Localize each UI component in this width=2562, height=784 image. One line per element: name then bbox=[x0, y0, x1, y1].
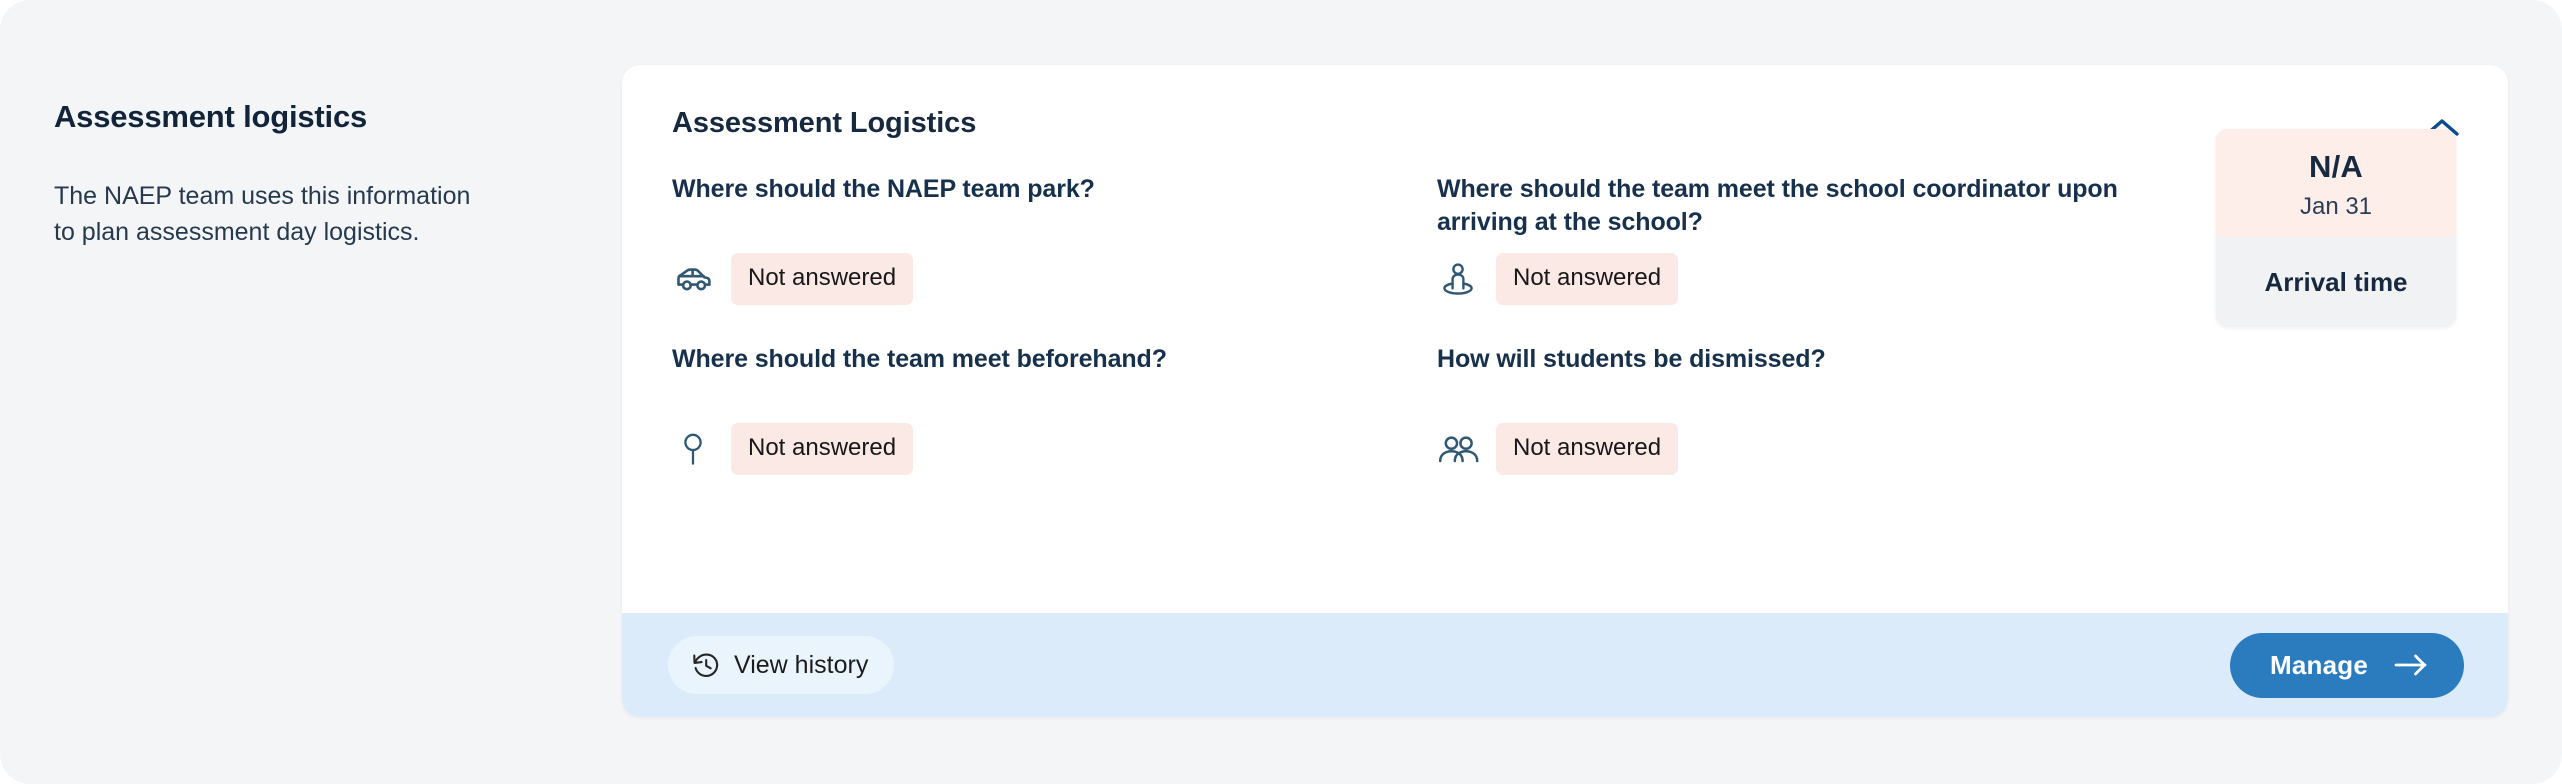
arrival-time-value: N/A bbox=[2309, 149, 2363, 185]
question-item-park: Where should the NAEP team park? Not bbox=[672, 173, 1437, 305]
questions-row-1: Where should the NAEP team park? Not bbox=[672, 173, 2202, 305]
status-badge: Not answered bbox=[731, 253, 913, 305]
status-badge: Not answered bbox=[1496, 253, 1678, 305]
arrival-time-panel[interactable]: N/A Jan 31 Arrival time bbox=[2216, 129, 2456, 327]
question-status: Not answered bbox=[1437, 423, 2146, 475]
arrival-time-date: Jan 31 bbox=[2300, 193, 2372, 221]
question-item-meet-beforehand: Where should the team meet beforehand? N… bbox=[672, 343, 1437, 475]
status-badge: Not answered bbox=[1496, 423, 1678, 475]
question-text: Where should the team meet the school co… bbox=[1437, 173, 2146, 241]
arrival-time-value-block: N/A Jan 31 bbox=[2216, 129, 2456, 237]
section-description: Assessment logistics The NAEP team uses … bbox=[54, 98, 524, 250]
car-icon bbox=[672, 258, 714, 300]
arrival-time-label-block: Arrival time bbox=[2216, 237, 2456, 327]
person-location-icon bbox=[1437, 258, 1479, 300]
assessment-logistics-card: Assessment Logistics Where should the NA… bbox=[622, 65, 2508, 717]
question-text: Where should the team meet beforehand? bbox=[672, 343, 1381, 411]
manage-label: Manage bbox=[2270, 650, 2368, 681]
card-title: Assessment Logistics bbox=[672, 107, 976, 140]
manage-button[interactable]: Manage bbox=[2230, 633, 2464, 698]
view-history-button[interactable]: View history bbox=[668, 636, 894, 694]
question-text: Where should the NAEP team park? bbox=[672, 173, 1381, 241]
page-title: Assessment logistics bbox=[54, 98, 524, 135]
page-root: Assessment logistics The NAEP team uses … bbox=[0, 0, 2562, 784]
question-status: Not answered bbox=[1437, 253, 2146, 305]
people-icon bbox=[1437, 428, 1479, 470]
question-status: Not answered bbox=[672, 423, 1381, 475]
arrival-time-label: Arrival time bbox=[2264, 267, 2407, 298]
questions-grid: Where should the NAEP team park? Not bbox=[672, 173, 2202, 475]
question-item-dismissal: How will students be dismissed? Not answ… bbox=[1437, 343, 2202, 475]
question-status: Not answered bbox=[672, 253, 1381, 305]
arrow-right-icon bbox=[2394, 652, 2428, 678]
clock-rewind-icon bbox=[690, 650, 720, 680]
view-history-label: View history bbox=[734, 651, 868, 680]
question-item-coordinator: Where should the team meet the school co… bbox=[1437, 173, 2202, 305]
map-pin-icon bbox=[672, 428, 714, 470]
card-footer: View history Manage bbox=[622, 613, 2508, 717]
question-text: How will students be dismissed? bbox=[1437, 343, 2146, 411]
page-description: The NAEP team uses this information to p… bbox=[54, 179, 484, 250]
status-badge: Not answered bbox=[731, 423, 913, 475]
questions-row-2: Where should the team meet beforehand? N… bbox=[672, 343, 2202, 475]
